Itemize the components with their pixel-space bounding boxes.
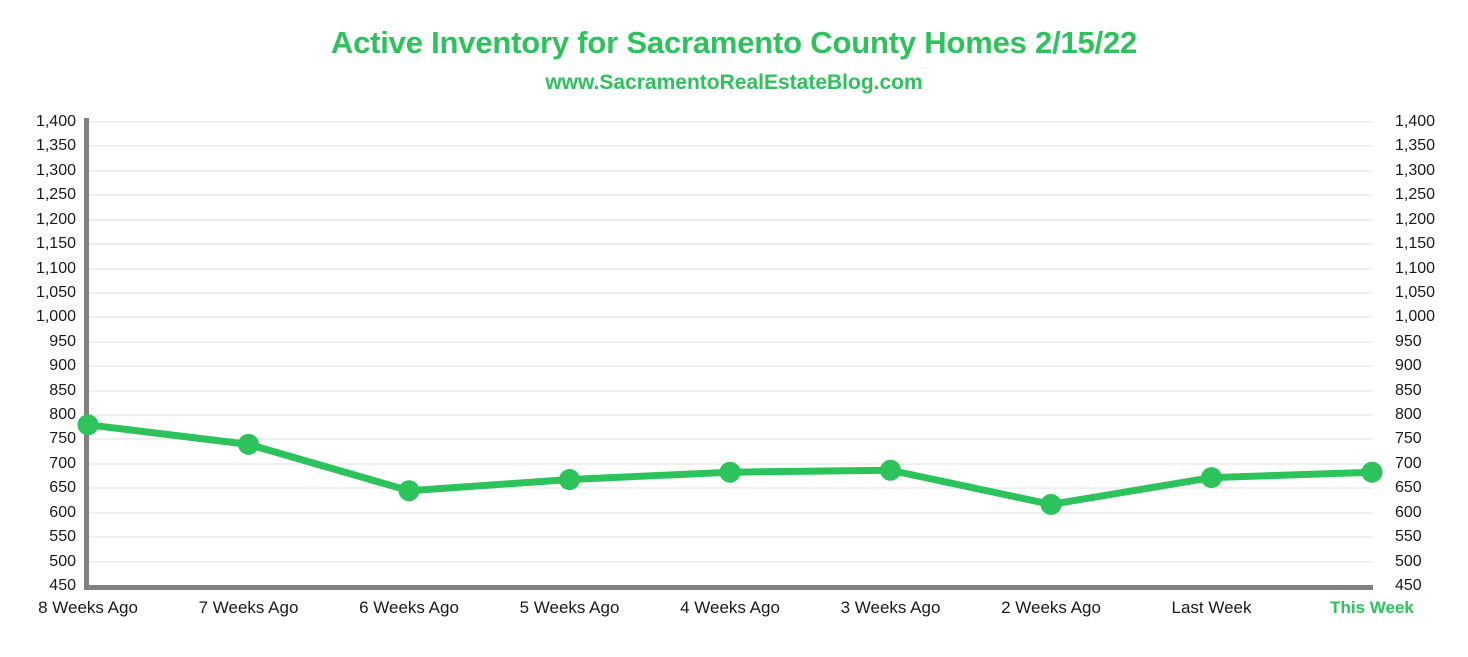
y-axis-tick-label-right: 550	[1395, 529, 1422, 545]
chart-container: Active Inventory for Sacramento County H…	[0, 0, 1468, 657]
data-point-marker	[78, 414, 99, 435]
y-axis-tick-label-left: 1,350	[36, 138, 76, 154]
y-axis-tick-label-left: 1,150	[36, 236, 76, 252]
y-axis-tick-label-left: 700	[49, 456, 76, 472]
y-axis-tick-label-right: 1,100	[1395, 261, 1435, 277]
y-axis-tick-label-left: 650	[49, 480, 76, 496]
y-axis-tick-label-left: 750	[49, 431, 76, 447]
data-point-marker	[1201, 467, 1222, 488]
plot-area	[88, 122, 1372, 586]
data-point-marker	[399, 480, 420, 501]
data-point-marker	[238, 434, 259, 455]
y-axis-tick-label-right: 650	[1395, 480, 1422, 496]
y-axis-tick-label-right: 700	[1395, 456, 1422, 472]
y-axis-tick-label-right: 1,400	[1395, 114, 1435, 130]
chart-subtitle: www.SacramentoRealEstateBlog.com	[0, 60, 1468, 94]
y-axis-tick-label-left: 1,300	[36, 163, 76, 179]
y-axis-tick-label-left: 1,400	[36, 114, 76, 130]
y-axis-tick-label-left: 500	[49, 554, 76, 570]
y-axis-tick-label-left: 800	[49, 407, 76, 423]
y-axis-tick-label-right: 500	[1395, 554, 1422, 570]
y-axis-tick-label-right: 850	[1395, 383, 1422, 399]
y-axis-tick-label-right: 1,000	[1395, 309, 1435, 325]
y-axis-tick-label-right: 750	[1395, 431, 1422, 447]
data-point-marker	[1362, 462, 1383, 483]
y-axis-tick-label-left: 550	[49, 529, 76, 545]
y-axis-tick-label-right: 1,200	[1395, 212, 1435, 228]
y-axis-tick-label-left: 1,200	[36, 212, 76, 228]
y-axis-tick-label-right: 1,250	[1395, 187, 1435, 203]
y-axis-tick-label-left: 850	[49, 383, 76, 399]
x-axis-category-label: 8 Weeks Ago	[38, 598, 138, 618]
y-axis-tick-label-left: 950	[49, 334, 76, 350]
y-axis-tick-label-right: 1,300	[1395, 163, 1435, 179]
y-axis-tick-label-right: 800	[1395, 407, 1422, 423]
x-axis-category-label: 5 Weeks Ago	[520, 598, 620, 618]
x-axis-category-label: 7 Weeks Ago	[199, 598, 299, 618]
x-axis-category-label: 4 Weeks Ago	[680, 598, 780, 618]
y-axis-tick-label-left: 600	[49, 505, 76, 521]
y-axis-tick-label-right: 1,350	[1395, 138, 1435, 154]
y-axis-tick-label-right: 600	[1395, 505, 1422, 521]
y-axis-tick-label-left: 1,050	[36, 285, 76, 301]
x-axis-category-label: This Week	[1330, 598, 1414, 618]
y-axis-tick-label-left: 1,250	[36, 187, 76, 203]
y-axis-tick-label-left: 1,100	[36, 261, 76, 277]
data-point-marker	[880, 460, 901, 481]
series-line-active-inventory	[88, 122, 1372, 586]
y-axis-tick-label-right: 1,050	[1395, 285, 1435, 301]
data-point-marker	[559, 469, 580, 490]
title-block: Active Inventory for Sacramento County H…	[0, 0, 1468, 94]
y-axis-tick-label-right: 900	[1395, 358, 1422, 374]
chart-title: Active Inventory for Sacramento County H…	[0, 0, 1468, 60]
y-axis-tick-label-right: 450	[1395, 578, 1422, 594]
data-point-marker	[1041, 494, 1062, 515]
x-axis-category-label: Last Week	[1171, 598, 1251, 618]
x-axis-category-label: 2 Weeks Ago	[1001, 598, 1101, 618]
y-axis-tick-label-right: 950	[1395, 334, 1422, 350]
x-axis-category-label: 6 Weeks Ago	[359, 598, 459, 618]
data-point-marker	[720, 462, 741, 483]
y-axis-tick-label-left: 900	[49, 358, 76, 374]
y-axis-tick-label-left: 450	[49, 578, 76, 594]
y-axis-tick-label-left: 1,000	[36, 309, 76, 325]
y-axis-tick-label-right: 1,150	[1395, 236, 1435, 252]
x-axis-category-label: 3 Weeks Ago	[841, 598, 941, 618]
